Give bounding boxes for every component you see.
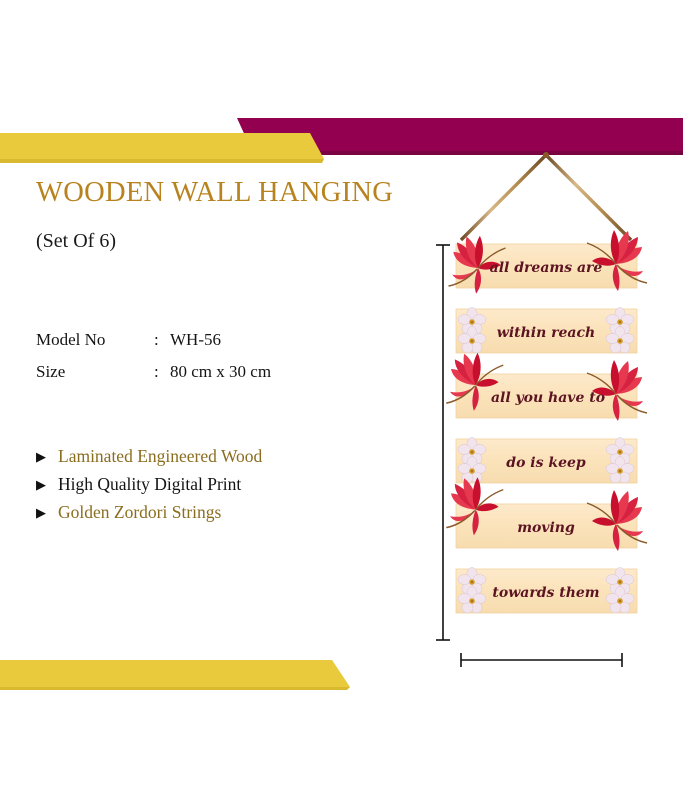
plaque-panel-4: do is keep [456,438,637,484]
spec-value-size: 80 cm x 30 cm [170,362,271,394]
specification-table: Model No : WH-56 Size : 80 cm x 30 cm [36,330,271,394]
spec-row-size: Size : 80 cm x 30 cm [36,362,271,394]
spec-separator-size: : [154,362,170,394]
yellow-ribbon [0,133,324,159]
panel-text-3: all you have to [491,390,605,406]
plaque-panel-5: moving [446,477,647,551]
feature-text-strings: Golden Zordori Strings [58,502,221,523]
feature-item-strings: ▶ Golden Zordori Strings [36,502,436,523]
panel-text-4: do is keep [506,455,586,471]
panel-text-2: within reach [497,325,595,341]
spec-label-model: Model No [36,330,154,362]
feature-text-material: Laminated Engineered Wood [58,446,262,467]
panel-text-5: moving [517,520,575,536]
width-dimension-line [461,653,622,667]
feature-text-print: High Quality Digital Print [58,474,241,495]
panel-text-1: all dreams are [490,260,603,276]
height-dimension-line [436,245,450,640]
plaque-panel-6: towards them [456,568,637,614]
footer-yellow-ribbon [0,660,350,687]
spec-row-model: Model No : WH-56 [36,330,271,362]
feature-list: ▶ Laminated Engineered Wood ▶ High Quali… [36,446,436,523]
plaque-panel-3: all you have to [446,353,647,421]
spec-separator-model: : [154,330,170,362]
feature-item-material: ▶ Laminated Engineered Wood [36,446,436,467]
product-subtitle: (Set Of 6) [36,230,436,252]
product-info-panel: WOODEN WALL HANGING (Set Of 6) Model No … [36,178,436,530]
product-image: all dreams are within reach all you have… [430,140,680,680]
triangle-bullet-icon: ▶ [36,478,46,491]
plaque-panel-2: within reach [456,308,637,354]
yellow-ribbon-shadow [0,159,324,163]
panel-text-6: towards them [492,585,599,601]
spec-value-model: WH-56 [170,330,271,362]
triangle-bullet-icon: ▶ [36,506,46,519]
spec-label-size: Size [36,362,154,394]
plaque-panel-1: all dreams are [449,230,647,294]
triangle-bullet-icon: ▶ [36,450,46,463]
wall-hanging-illustration: all dreams are within reach all you have… [430,140,680,680]
feature-item-print: ▶ High Quality Digital Print [36,474,436,495]
hanging-rope [461,152,631,240]
page-title: WOODEN WALL HANGING [36,178,436,208]
footer-yellow-ribbon-shadow [0,687,350,690]
